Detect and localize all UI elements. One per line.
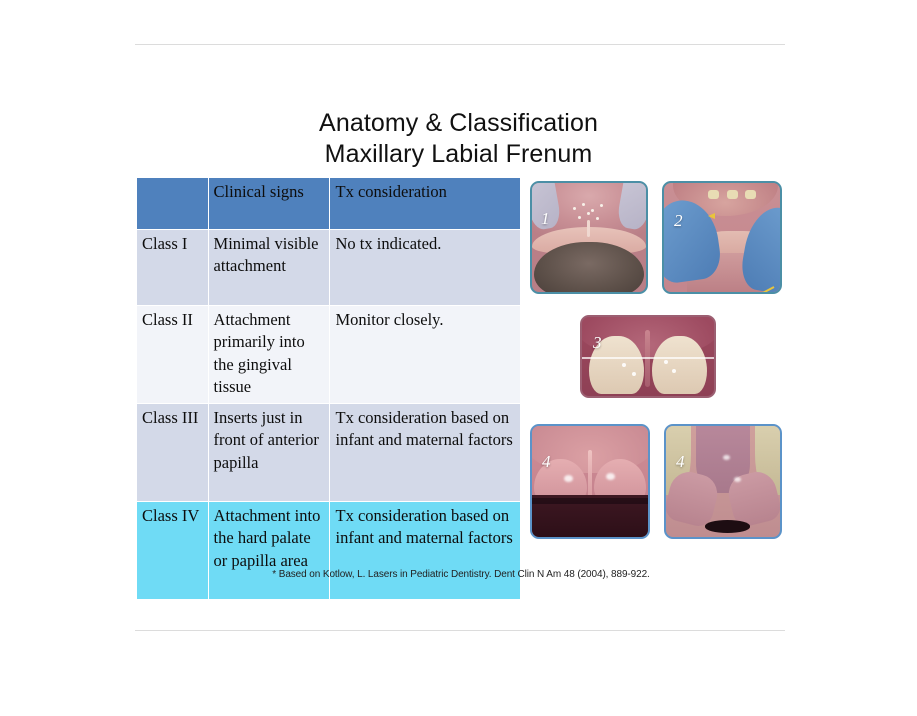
cell-clinical-signs: Attachment primarily into the gingival t… — [209, 306, 330, 403]
photo-1-highlight — [587, 212, 590, 215]
cell-tx-consideration: Tx consideration based on infant and mat… — [330, 502, 520, 599]
table-row: Class II Attachment primarily into the g… — [137, 306, 520, 403]
photo-2-pointer-arrowhead — [708, 213, 715, 219]
photo-3-alveolar-pad-right — [652, 336, 707, 394]
slide-title: Anatomy & Classification Maxillary Labia… — [0, 108, 917, 170]
table-row: Class I Minimal visible attachment No tx… — [137, 230, 520, 305]
source-citation: * Based on Kotlow, L. Lasers in Pediatri… — [136, 569, 786, 580]
cell-tx-consideration: Tx consideration based on infant and mat… — [330, 404, 520, 501]
frenum-classification-table: Clinical signs Tx consideration Class I … — [136, 177, 521, 600]
photo-1-mouth — [534, 242, 643, 294]
cell-clinical-signs: Minimal visible attachment — [209, 230, 330, 305]
cell-tx-consideration: No tx indicated. — [330, 230, 520, 305]
table-row: Class III Inserts just in front of anter… — [137, 404, 520, 501]
clinical-photo-2: 2 — [662, 181, 782, 294]
photo-number-label: 4 — [542, 452, 551, 472]
cell-class: Class IV — [137, 502, 208, 599]
cell-class: Class II — [137, 306, 208, 403]
photo-number-label: 1 — [541, 209, 550, 229]
photo-1-highlight — [578, 216, 581, 219]
table-row-highlighted: Class IV Attachment into the hard palate… — [137, 502, 520, 599]
photo-number-label: 4 — [676, 452, 685, 472]
clinical-photo-4b: 4 — [664, 424, 782, 539]
cell-clinical-signs: Inserts just in front of anterior papill… — [209, 404, 330, 501]
photo-1-frenum — [587, 220, 590, 237]
photo-3-scanline — [582, 357, 714, 359]
clinical-photo-1: 1 — [530, 181, 648, 294]
title-line-2: Maxillary Labial Frenum — [0, 139, 917, 170]
title-line-1: Anatomy & Classification — [0, 108, 917, 139]
photo-3-highlight — [672, 369, 676, 373]
photo-1-highlight — [573, 207, 576, 210]
cell-clinical-signs: Attachment into the hard palate or papil… — [209, 502, 330, 599]
table-header-row: Clinical signs Tx consideration — [137, 178, 520, 229]
photo-1-highlight — [591, 209, 594, 212]
photo-4b-highlight — [723, 455, 730, 460]
photo-1-highlight — [596, 217, 599, 220]
header-tx-consideration: Tx consideration — [330, 178, 520, 229]
page-rule-bottom — [135, 630, 785, 631]
photo-4b-mouth-gap — [705, 520, 751, 532]
page-rule-top — [135, 44, 785, 45]
photo-2-tooth — [745, 190, 756, 199]
header-class-column — [137, 178, 208, 229]
photo-2-tooth — [727, 190, 738, 199]
photo-number-label: 3 — [593, 333, 602, 353]
photo-1-highlight — [582, 203, 585, 206]
photo-1-lip-right — [616, 181, 648, 231]
clinical-photo-3: 3 — [580, 315, 716, 398]
photo-number-label: 2 — [674, 211, 683, 231]
photo-4a-highlight — [606, 473, 615, 480]
photo-3-highlight — [622, 363, 626, 367]
photo-4a-frenum — [588, 450, 592, 499]
photo-1-highlight — [600, 204, 603, 207]
header-clinical-signs: Clinical signs — [209, 178, 330, 229]
photo-2-tooth — [708, 190, 719, 199]
cell-class: Class III — [137, 404, 208, 501]
photo-4a-shadow-band — [532, 498, 648, 504]
clinical-photo-4a: 4 — [530, 424, 650, 539]
photo-2-gloved-finger-right — [738, 203, 782, 294]
cell-class: Class I — [137, 230, 208, 305]
cell-tx-consideration: Monitor closely. — [330, 306, 520, 403]
